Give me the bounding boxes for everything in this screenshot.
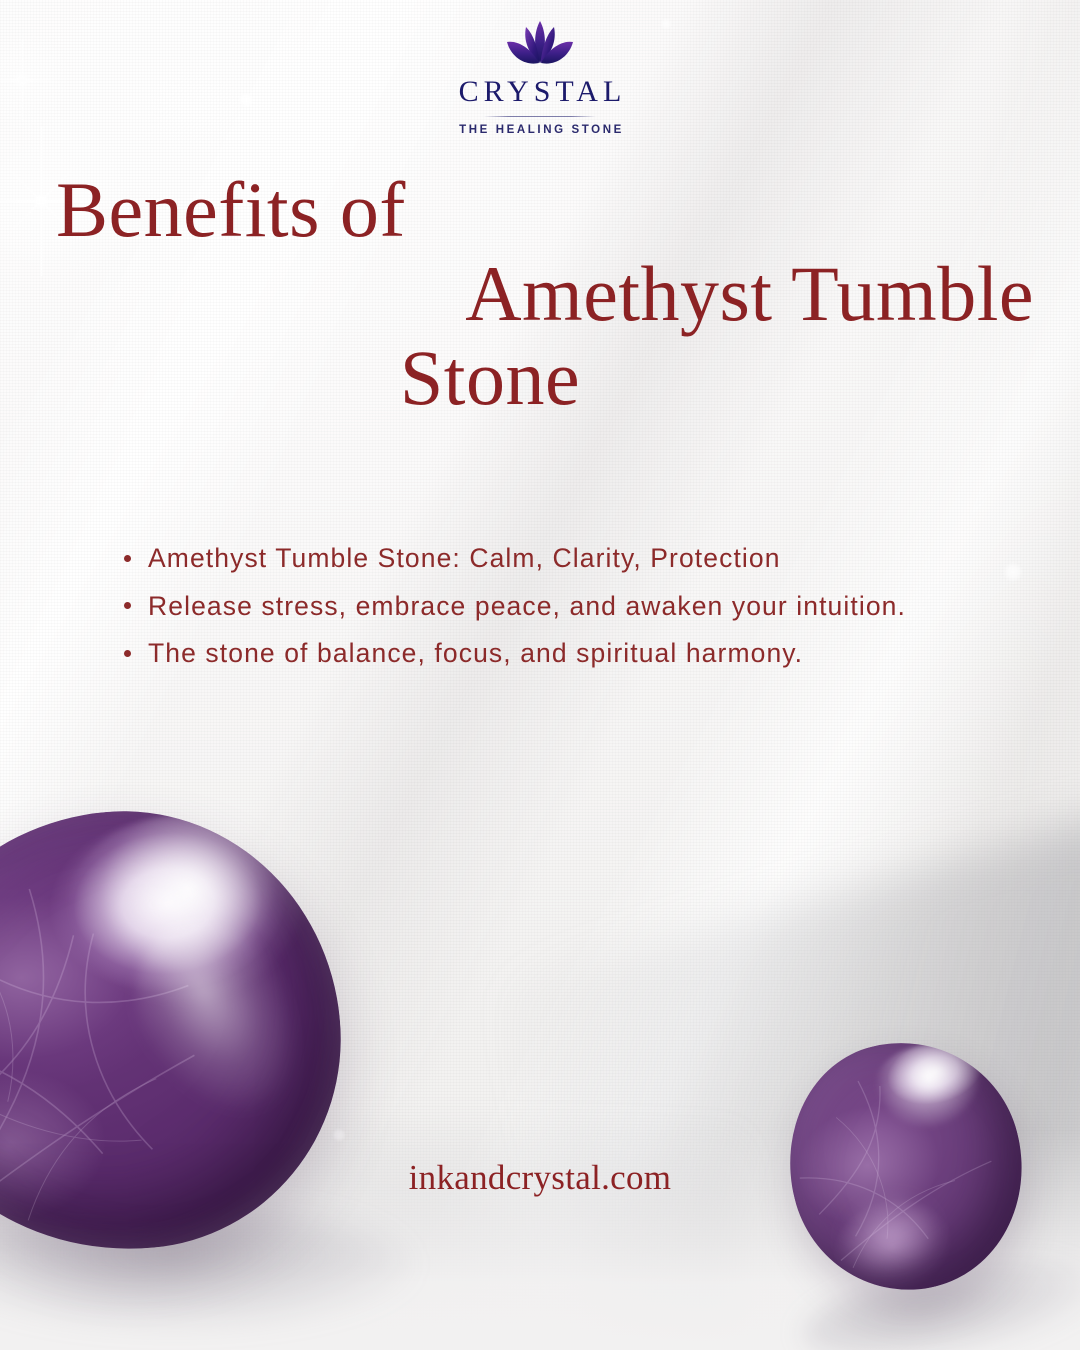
list-item: The stone of balance, focus, and spiritu… bbox=[120, 631, 980, 677]
list-item: Release stress, embrace peace, and awake… bbox=[120, 584, 980, 630]
lotus-icon bbox=[501, 18, 579, 70]
headline-line-2: Amethyst Tumble bbox=[56, 252, 1044, 336]
brand-logo: CRYSTAL THE HEALING STONE bbox=[0, 18, 1080, 136]
poster-canvas: CRYSTAL THE HEALING STONE Benefits of Am… bbox=[0, 0, 1080, 1350]
website-url[interactable]: inkandcrystal.com bbox=[0, 1158, 1080, 1198]
headline-line-1: Benefits of bbox=[56, 168, 1044, 252]
brand-divider bbox=[484, 116, 596, 117]
page-title: Benefits of Amethyst Tumble Stone bbox=[56, 168, 1044, 421]
brand-name: CRYSTAL bbox=[454, 77, 627, 107]
benefits-list: Amethyst Tumble Stone: Calm, Clarity, Pr… bbox=[120, 536, 980, 679]
list-item: Amethyst Tumble Stone: Calm, Clarity, Pr… bbox=[120, 536, 980, 582]
brand-tagline: THE HEALING STONE bbox=[456, 124, 624, 136]
headline-line-3: Stone bbox=[56, 336, 1044, 420]
